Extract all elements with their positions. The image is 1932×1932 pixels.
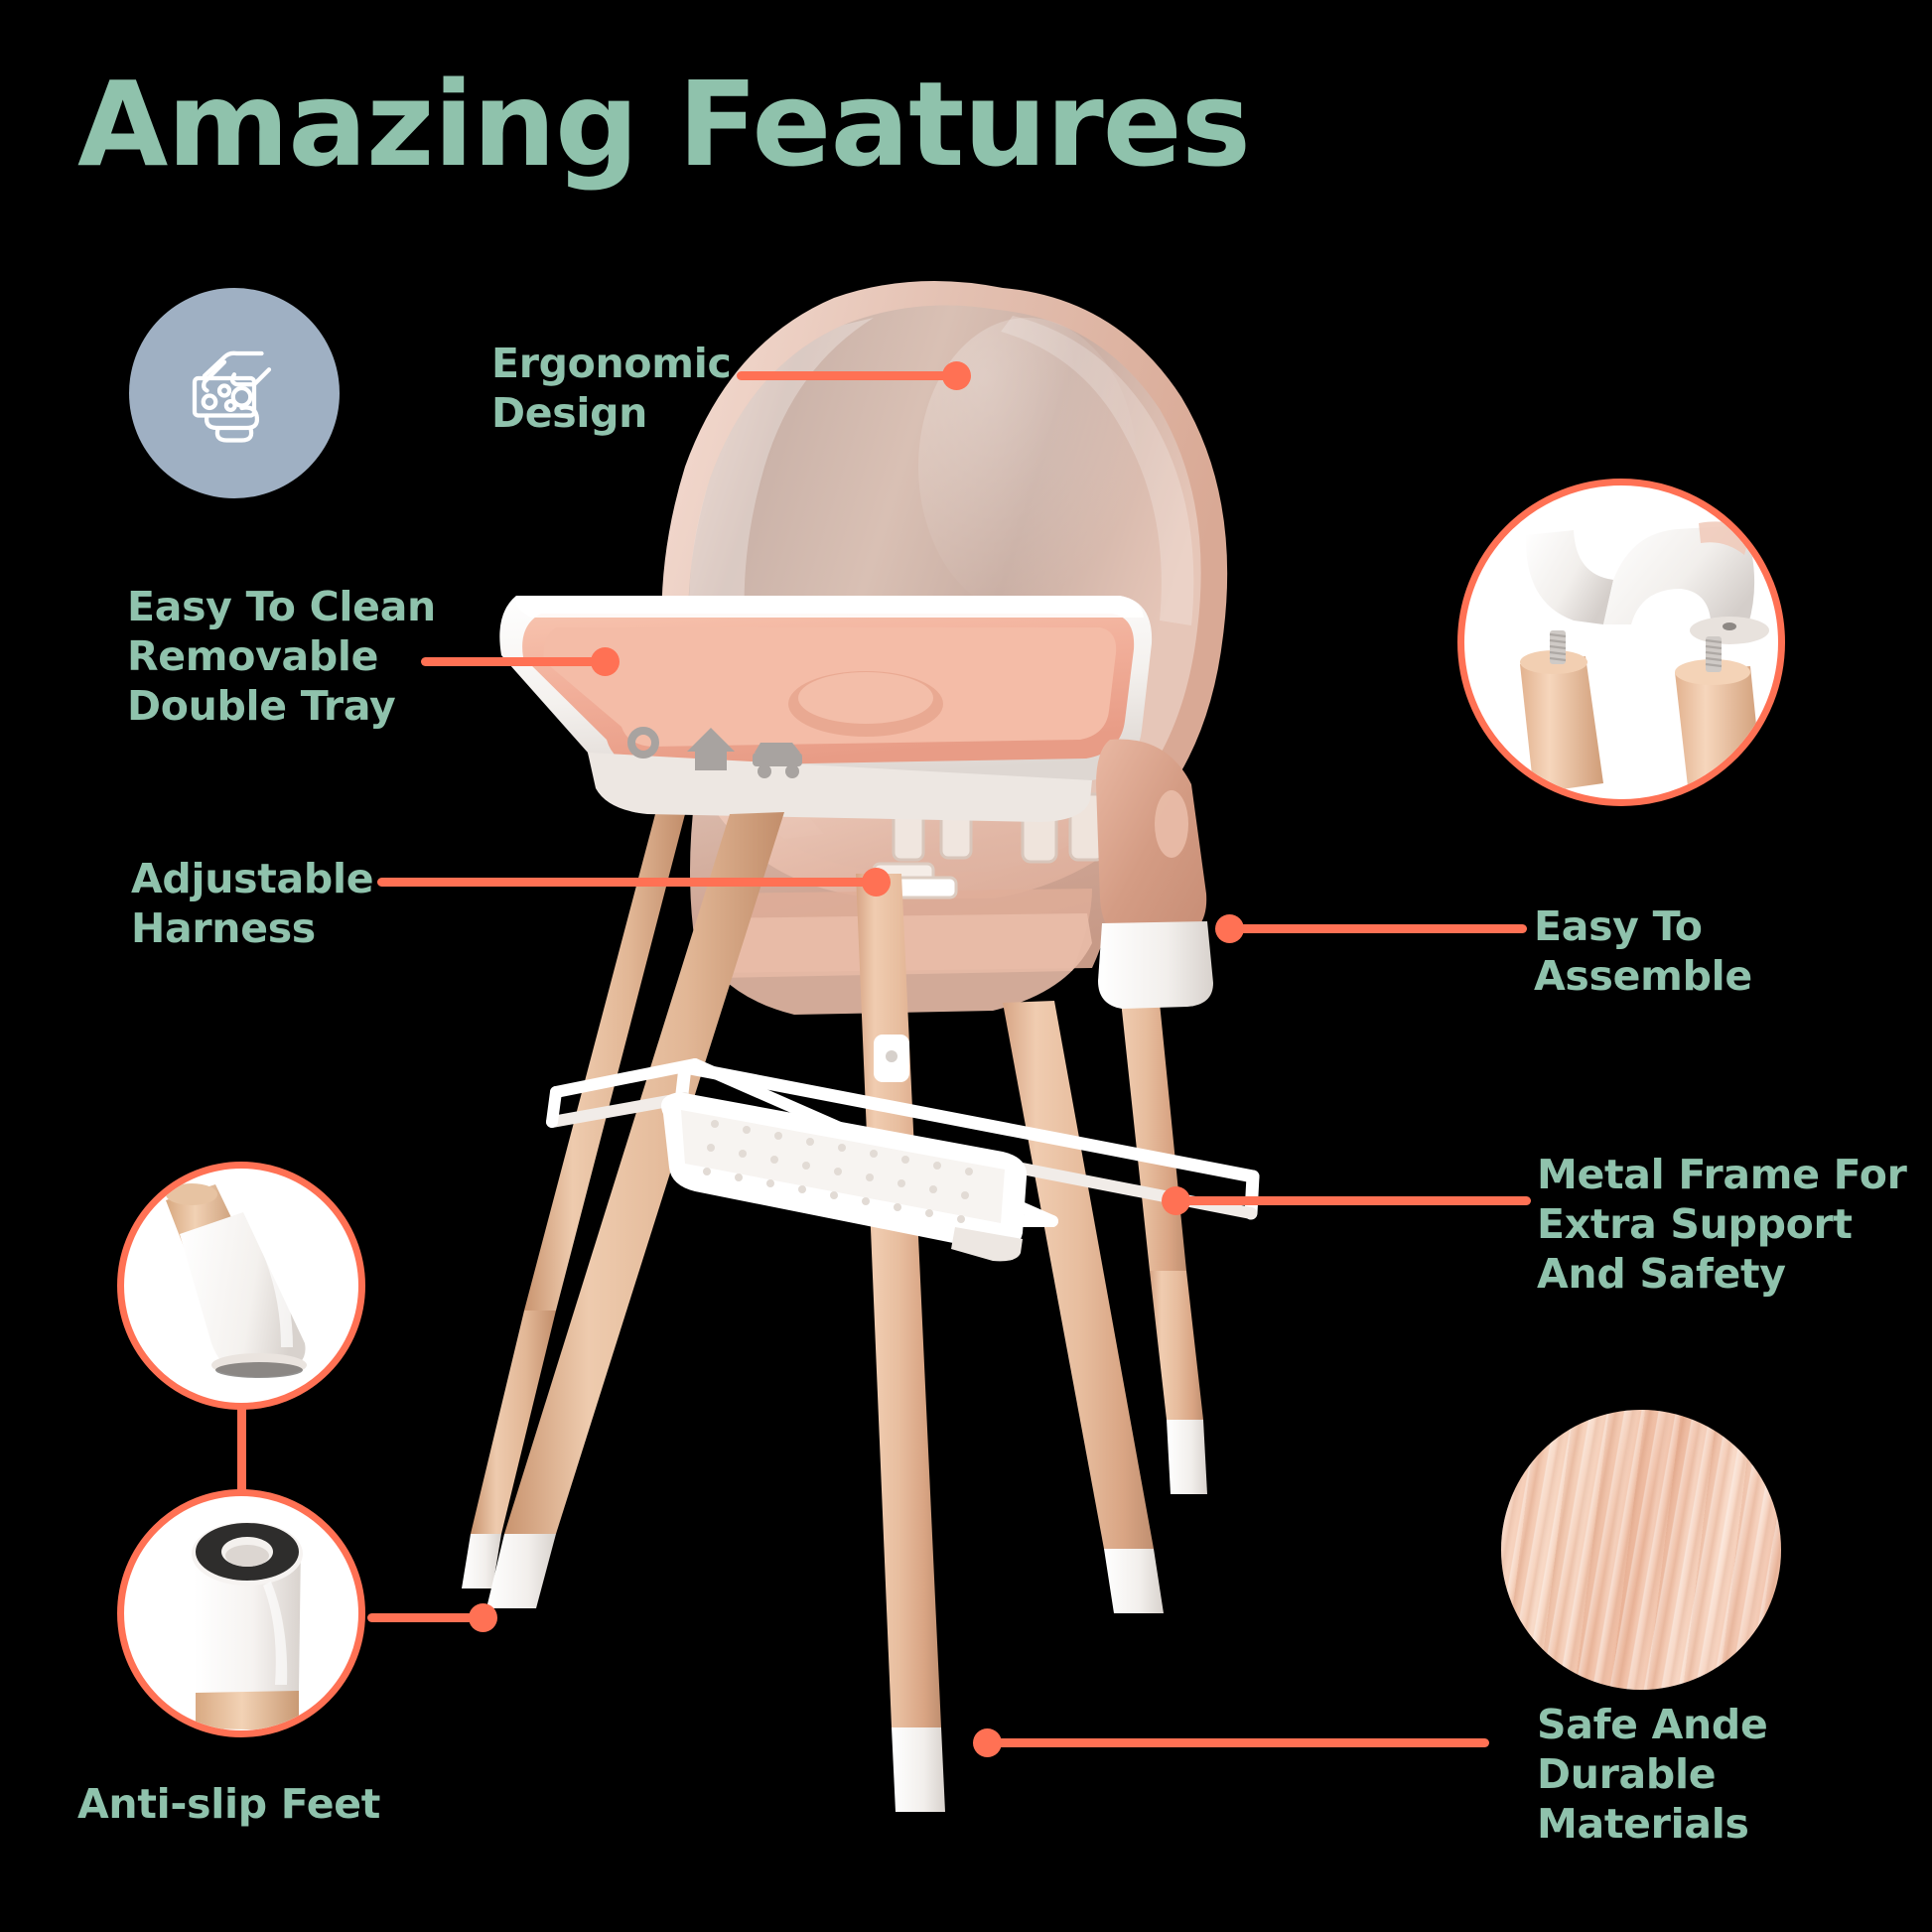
assemble-detail-circle: [1457, 479, 1785, 806]
leader-dot-easy-to-assemble: [1215, 914, 1244, 943]
leader-line-safe-durable: [993, 1738, 1489, 1747]
label-safe-durable-materials: Safe Ande Durable Materials: [1537, 1700, 1932, 1849]
easy-to-clean-icon-circle: [129, 288, 340, 498]
connector-line-detail-circles: [237, 1405, 246, 1496]
label-easy-to-clean: Easy To Clean Removable Double Tray: [127, 582, 436, 731]
label-ergonomic-design: Ergonomic Design: [491, 339, 731, 438]
leader-dot-easy-to-clean: [591, 647, 620, 676]
leader-dot-adjustable-harness: [862, 868, 891, 897]
leader-line-ergonomic-design: [737, 371, 955, 380]
wood-texture: [1501, 1410, 1781, 1690]
leg-cap-detail-circle: [117, 1162, 365, 1410]
sponge-hand-icon: [160, 319, 309, 468]
leader-line-easy-to-assemble: [1239, 924, 1527, 933]
label-adjustable-harness: Adjustable Harness: [131, 854, 373, 953]
leader-line-easy-to-clean: [421, 657, 600, 666]
wood-grain-detail-circle: [1501, 1410, 1781, 1690]
chair-tray: [499, 596, 1152, 822]
leader-line-metal-frame: [1183, 1196, 1531, 1205]
height-adjuster-knob: [1096, 740, 1213, 1009]
leader-dot-ergonomic-design: [942, 361, 971, 390]
infographic-canvas: Amazing Features: [0, 0, 1932, 1932]
leader-dot-safe-durable: [973, 1728, 1002, 1757]
leader-dot-metal-frame: [1162, 1186, 1190, 1215]
label-easy-to-assemble: Easy To Assemble: [1534, 901, 1752, 1001]
label-anti-slip-feet: Anti-slip Feet: [77, 1779, 380, 1829]
label-metal-frame: Metal Frame For Extra Support And Safety: [1537, 1150, 1907, 1299]
anti-slip-detail-circle: [117, 1489, 365, 1737]
leader-line-adjustable-harness: [377, 878, 874, 887]
leader-dot-anti-slip-feet: [469, 1603, 497, 1632]
